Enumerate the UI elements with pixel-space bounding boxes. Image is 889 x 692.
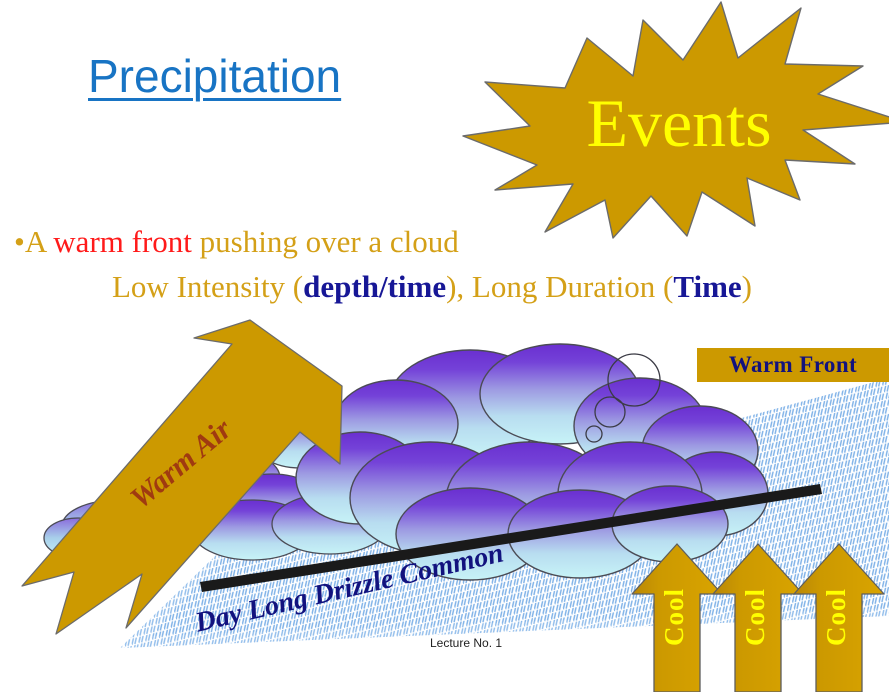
bullet-line-1: •A warm front pushing over a cloud — [14, 224, 459, 260]
bullet-line-1-part-a: A — [25, 224, 53, 259]
bullet-line-2: Low Intensity (depth/time), Long Duratio… — [112, 269, 752, 305]
warm-front-label: Warm Front — [729, 352, 857, 378]
bullet-line-2-part-e: ) — [742, 269, 752, 304]
lecture-footer: Lecture No. 1 — [430, 636, 502, 650]
starburst-callout: Events — [455, 0, 889, 240]
presentation-slide: Precipitation Events •A warm front pushi… — [0, 0, 889, 692]
bullet-line-2-part-a: Low Intensity ( — [112, 269, 303, 304]
starburst-icon — [455, 0, 889, 240]
bullet-line-1-warm-front: warm front — [53, 224, 192, 259]
warm-front-badge: Warm Front — [697, 348, 889, 382]
bullet-line-2-time: Time — [673, 269, 741, 304]
bullet-line-2-part-c: ), Long Duration ( — [446, 269, 673, 304]
bullet-line-1-part-c: pushing over a cloud — [192, 224, 459, 259]
bullet-line-2-depth-time: depth/time — [303, 269, 446, 304]
page-title: Precipitation — [88, 52, 341, 100]
bullet-marker-icon: • — [14, 224, 25, 259]
